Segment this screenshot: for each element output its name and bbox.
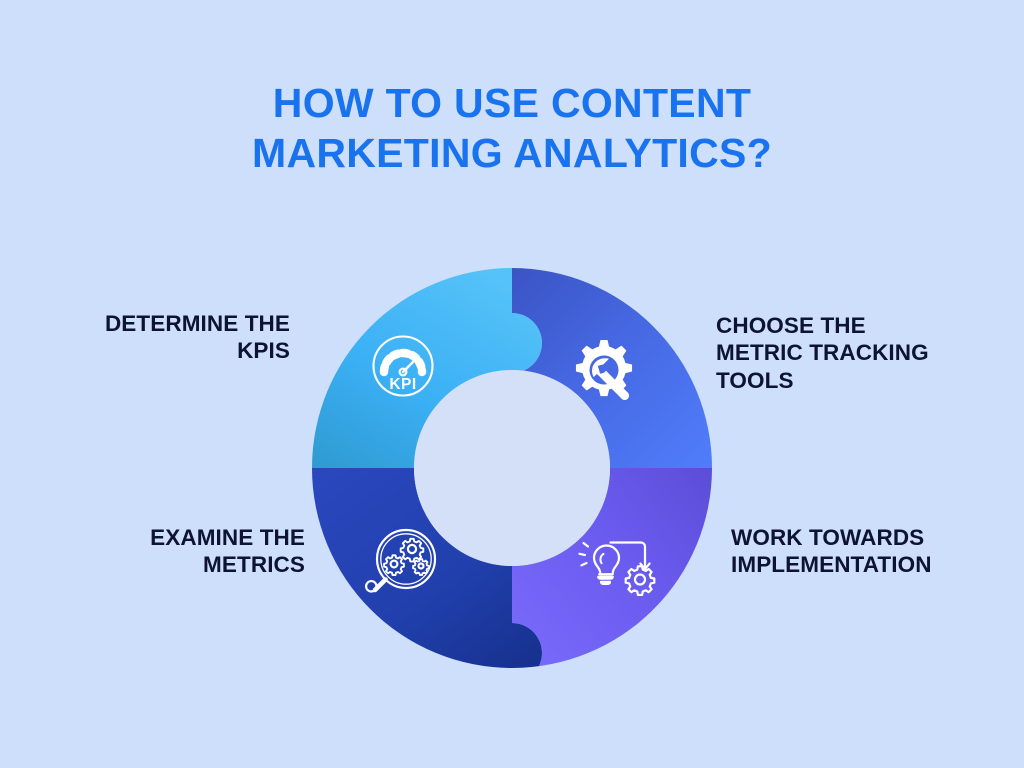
label-choose-metric-tracking-tools: CHOOSE THE METRIC TRACKING TOOLS (716, 312, 1006, 394)
label-determine-kpis: DETERMINE THE KPIS (20, 310, 290, 365)
label-examine-metrics-line-1: EXAMINE THE (40, 524, 305, 551)
label-work-implementation-line-1: WORK TOWARDS (731, 524, 1016, 551)
svg-text:KPI: KPI (389, 376, 416, 393)
label-work-implementation-line-2: IMPLEMENTATION (731, 551, 1016, 578)
page-title-line-2: MARKETING ANALYTICS? (0, 128, 1024, 178)
puzzle-donut-diagram: KPI (312, 268, 712, 668)
page-title: HOW TO USE CONTENT MARKETING ANALYTICS? (0, 78, 1024, 178)
label-choose-tools-line-1: CHOOSE THE (716, 312, 1006, 339)
label-choose-tools-line-2: METRIC TRACKING (716, 339, 1006, 366)
label-examine-metrics-line-2: METRICS (40, 551, 305, 578)
label-examine-the-metrics: EXAMINE THE METRICS (40, 524, 305, 579)
label-determine-kpis-line-2: KPIS (20, 337, 290, 364)
page-title-line-1: HOW TO USE CONTENT (0, 78, 1024, 128)
label-determine-kpis-line-1: DETERMINE THE (20, 310, 290, 337)
label-choose-tools-line-3: TOOLS (716, 367, 1006, 394)
label-work-towards-implementation: WORK TOWARDS IMPLEMENTATION (731, 524, 1016, 579)
donut-hole (414, 370, 610, 566)
